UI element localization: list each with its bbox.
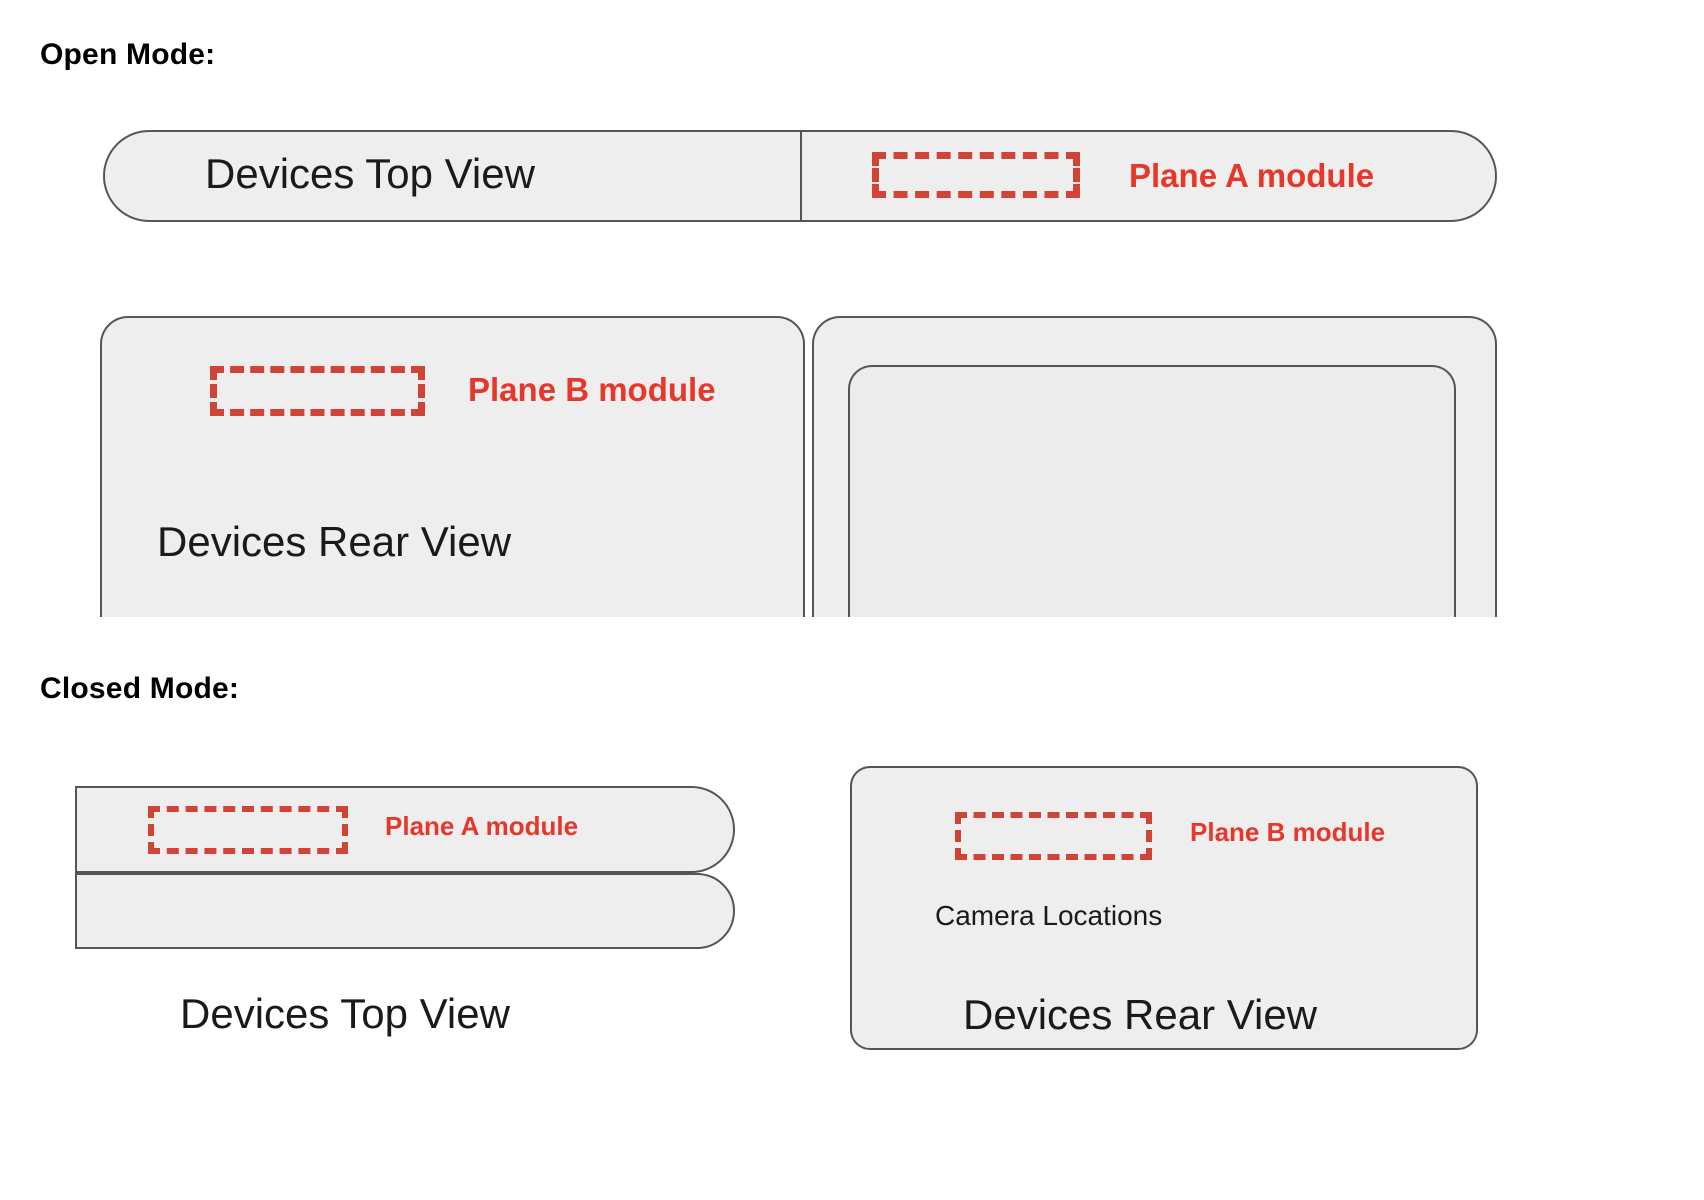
open-mode-heading: Open Mode: bbox=[40, 38, 215, 72]
open-mode-rear-row-crop-mask bbox=[0, 617, 1704, 657]
plane-b-module-marker-icon bbox=[210, 366, 425, 416]
diagram-canvas: Open Mode: Devices Top View Plane A modu… bbox=[0, 0, 1704, 1200]
closed-mode-heading: Closed Mode: bbox=[40, 672, 239, 706]
plane-b-module-label-open: Plane B module bbox=[468, 371, 716, 409]
open-mode-rear-view-left-shell bbox=[100, 316, 805, 646]
plane-b-module-marker-icon-closed bbox=[955, 812, 1152, 860]
plane-a-module-marker-icon-closed bbox=[148, 806, 348, 854]
plane-a-module-label-closed: Plane A module bbox=[385, 811, 578, 842]
open-mode-top-view-label: Devices Top View bbox=[205, 150, 535, 198]
open-mode-rear-view-label: Devices Rear View bbox=[157, 518, 511, 566]
plane-a-module-marker-icon bbox=[872, 152, 1080, 198]
closed-mode-top-view-caption: Devices Top View bbox=[180, 990, 510, 1038]
plane-b-module-label-closed: Plane B module bbox=[1190, 817, 1385, 848]
open-mode-rear-view-inner-screen bbox=[848, 365, 1456, 646]
camera-locations-label: Camera Locations bbox=[935, 900, 1162, 932]
plane-a-module-label-open: Plane A module bbox=[1129, 157, 1374, 195]
open-mode-top-view-divider bbox=[800, 130, 802, 222]
closed-mode-top-view-lower-shell bbox=[75, 873, 735, 949]
closed-mode-rear-view-caption: Devices Rear View bbox=[963, 991, 1317, 1039]
